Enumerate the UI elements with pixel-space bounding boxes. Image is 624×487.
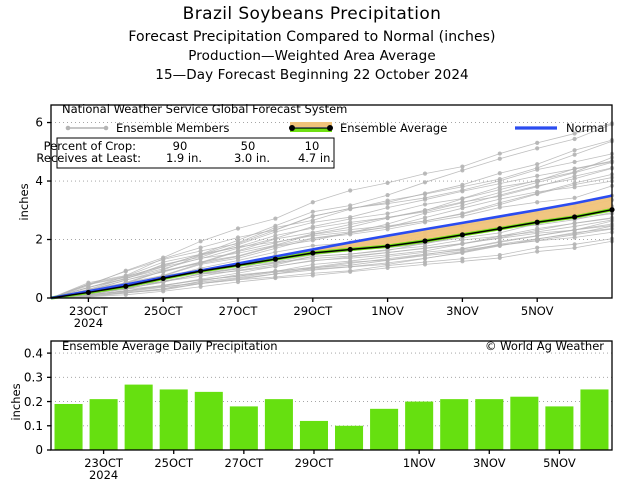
ensemble-member-point	[460, 257, 464, 261]
crop-percentile-table: Percent of Crop:Receives at Least:905010…	[36, 138, 334, 168]
ensemble-member-point	[348, 269, 352, 273]
ensemble-member-point	[573, 137, 577, 141]
ensemble-member-point	[535, 166, 539, 170]
ensemble-member-point	[498, 171, 502, 175]
ensemble-member-point	[535, 185, 539, 189]
ensemble-member-point	[423, 180, 427, 184]
daily-precip-bar	[300, 421, 328, 450]
subtitle-line-1: Forecast Precipitation Compared to Norma…	[0, 29, 624, 45]
ensemble-member-point	[199, 239, 203, 243]
ensemble-average-point	[422, 238, 427, 243]
ensemble-member-point	[386, 205, 390, 209]
ensemble-member-point	[573, 224, 577, 228]
ensemble-member-point	[273, 236, 277, 240]
ensemble-member-point	[386, 222, 390, 226]
top-chart-y-tick-label: 6	[35, 116, 43, 130]
daily-precip-bar	[370, 409, 398, 450]
ensemble-member-point	[573, 196, 577, 200]
ensemble-member-point	[535, 230, 539, 234]
top-chart-x-tick-year: 2024	[74, 316, 103, 330]
ensemble-member-point	[573, 246, 577, 250]
crop-table-amount: 1.9 in.	[166, 151, 202, 165]
top-chart-x-tick-label: 25OCT	[144, 304, 184, 318]
ensemble-member-point	[498, 177, 502, 181]
ensemble-member-point	[124, 269, 128, 273]
ensemble-member-point	[348, 225, 352, 229]
ensemble-member-point	[311, 232, 315, 236]
bottom-chart-x-tick-label: 27OCT	[224, 456, 264, 470]
bottom-chart-x-tick-label: 25OCT	[154, 456, 194, 470]
subtitle-line-2: Production—Weighted Area Average	[0, 48, 624, 64]
ensemble-member-point	[423, 250, 427, 254]
top-chart-x-tick-label: 1NOV	[371, 304, 404, 318]
ensemble-member-point	[498, 185, 502, 189]
ensemble-average-point	[273, 257, 278, 262]
ensemble-member-point	[573, 228, 577, 232]
daily-precip-bar	[545, 406, 573, 450]
ensemble-average-point	[572, 214, 577, 219]
ensemble-member-point	[573, 242, 577, 246]
bottom-chart-y-tick-label: 0	[35, 443, 43, 457]
legend-swatch-ensemble-average	[289, 122, 333, 131]
ensemble-member-point	[498, 194, 502, 198]
ensemble-member-point	[236, 235, 240, 239]
daily-precip-bar	[90, 399, 118, 450]
ensemble-member-point	[573, 181, 577, 185]
ensemble-member-point	[460, 196, 464, 200]
daily-precip-bar	[510, 397, 538, 450]
ensemble-member-point	[273, 261, 277, 265]
ensemble-member-point	[86, 281, 90, 285]
ensemble-member-point	[573, 160, 577, 164]
ensemble-member-point	[535, 162, 539, 166]
legend-label-normal: Normal	[566, 121, 608, 135]
ensemble-member-point	[535, 191, 539, 195]
bottom-chart-y-tick-label: 0.3	[24, 371, 43, 385]
ensemble-member-point	[273, 269, 277, 273]
ensemble-member-point	[348, 188, 352, 192]
bottom-chart-panel: 00.10.20.30.423OCT202425OCT27OCT29OCT1NO…	[0, 336, 624, 487]
ensemble-member-point	[273, 250, 277, 254]
ensemble-average-point	[385, 244, 390, 249]
crop-table-row2-label: Receives at Least:	[36, 151, 141, 165]
ensemble-member-point	[423, 196, 427, 200]
ensemble-member-point	[273, 241, 277, 245]
ensemble-average-point	[348, 247, 353, 252]
ensemble-member-point	[311, 244, 315, 248]
ensemble-member-point	[236, 254, 240, 258]
ensemble-member-point	[535, 200, 539, 204]
bottom-chart-y-tick-label: 0.2	[24, 395, 43, 409]
ensemble-member-point	[535, 179, 539, 183]
daily-precip-bar	[475, 399, 503, 450]
ensemble-member-point	[460, 183, 464, 187]
legend-label-ensemble-members: Ensemble Members	[116, 121, 229, 135]
bottom-chart-x-tick-label: 29OCT	[295, 456, 335, 470]
ensemble-member-point	[423, 256, 427, 260]
ensemble-member-point	[348, 259, 352, 263]
bottom-chart-plot: 00.10.20.30.423OCT202425OCT27OCT29OCT1NO…	[24, 339, 612, 482]
ensemble-member-point	[348, 230, 352, 234]
ensemble-member-point	[236, 246, 240, 250]
daily-precip-bar	[230, 406, 258, 450]
ensemble-average-point	[235, 263, 240, 268]
ensemble-member-point	[386, 200, 390, 204]
ensemble-average-point	[535, 220, 540, 225]
ensemble-member-point	[236, 241, 240, 245]
ensemble-member-point	[460, 211, 464, 215]
daily-precip-bar	[580, 389, 608, 450]
crop-table-amount: 3.0 in.	[234, 151, 270, 165]
bottom-chart-panel-label: Ensemble Average Daily Precipitation	[62, 339, 278, 353]
ensemble-average-point	[86, 290, 91, 295]
bottom-chart-x-tick-label: 5NOV	[543, 456, 576, 470]
daily-precip-bar	[125, 385, 153, 450]
ensemble-member-point	[498, 201, 502, 205]
ensemble-member-point	[124, 273, 128, 277]
title-block: Brazil Soybeans Precipitation Forecast P…	[0, 0, 624, 83]
model-name-label: National Weather Service Global Forecast…	[62, 102, 347, 116]
ensemble-member-point	[161, 263, 165, 267]
ensemble-member-point	[498, 157, 502, 161]
ensemble-member-point	[423, 172, 427, 176]
ensemble-average-point	[161, 276, 166, 281]
daily-precip-bar	[335, 426, 363, 450]
top-chart-panel: 024623OCT202425OCT27OCT29OCT1NOV3NOV5NOV…	[0, 100, 624, 335]
top-chart-x-tick-label: 29OCT	[293, 304, 333, 318]
daily-precip-bar	[405, 402, 433, 450]
daily-precip-bar	[265, 399, 293, 450]
ensemble-member-point	[199, 253, 203, 257]
ensemble-member-point	[498, 253, 502, 257]
crop-table-amount: 4.7 in.	[298, 151, 334, 165]
top-chart-x-tick-label: 5NOV	[521, 304, 554, 318]
ensemble-member-point	[498, 151, 502, 155]
ensemble-member-point	[273, 228, 277, 232]
ensemble-member-point	[311, 218, 315, 222]
ensemble-member-point	[535, 174, 539, 178]
ensemble-member-point	[236, 226, 240, 230]
ensemble-member-point	[311, 271, 315, 275]
legend-label-ensemble-average: Ensemble Average	[340, 121, 447, 135]
ensemble-average-point	[310, 250, 315, 255]
daily-precip-bar	[440, 399, 468, 450]
ensemble-member-point	[199, 245, 203, 249]
ensemble-member-point	[535, 246, 539, 250]
ensemble-average-point	[497, 226, 502, 231]
ensemble-member-point	[535, 141, 539, 145]
top-chart-x-tick-label: 27OCT	[219, 304, 259, 318]
ensemble-member-point	[348, 265, 352, 269]
subtitle-line-3: 15—Day Forecast Beginning 22 October 202…	[0, 67, 624, 83]
ensemble-average-point	[123, 284, 128, 289]
ensemble-member-point	[311, 214, 315, 218]
ensemble-average-point	[460, 232, 465, 237]
ensemble-member-point	[348, 206, 352, 210]
ensemble-member-point	[199, 261, 203, 265]
ensemble-member-point	[386, 215, 390, 219]
ensemble-member-point	[573, 167, 577, 171]
chart-page: Brazil Soybeans Precipitation Forecast P…	[0, 0, 624, 487]
bottom-chart-x-tick-label: 3NOV	[473, 456, 506, 470]
ensemble-member-point	[273, 216, 277, 220]
ensemble-member-point	[311, 200, 315, 204]
ensemble-member-point	[161, 256, 165, 260]
ensemble-member-point	[236, 274, 240, 278]
top-chart-x-tick-label: 3NOV	[446, 304, 479, 318]
ensemble-member-point	[311, 238, 315, 242]
bottom-chart-x-tick-label: 1NOV	[403, 456, 436, 470]
copyright-credit: © World Ag Weather	[485, 339, 604, 353]
ensemble-member-point	[460, 247, 464, 251]
ensemble-member-point	[535, 249, 539, 253]
bottom-chart-x-tick-year: 2024	[89, 468, 118, 482]
ensemble-member-point	[460, 165, 464, 169]
ensemble-member-point	[386, 254, 390, 258]
daily-precip-bar	[55, 404, 83, 450]
bottom-chart-y-tick-label: 0.4	[24, 346, 43, 360]
ensemble-member-point	[423, 260, 427, 264]
ensemble-member-point	[460, 168, 464, 172]
ensemble-member-point	[423, 202, 427, 206]
top-chart-y-tick-label: 2	[35, 233, 43, 247]
ensemble-member-point	[423, 219, 427, 223]
daily-precip-bar	[195, 392, 223, 450]
top-chart-y-tick-label: 0	[35, 291, 43, 305]
daily-precip-bar	[160, 389, 188, 450]
page-title: Brazil Soybeans Precipitation	[0, 4, 624, 24]
ensemble-member-point	[386, 212, 390, 216]
ensemble-member-point	[386, 181, 390, 185]
top-chart-y-tick-label: 4	[35, 174, 43, 188]
ensemble-member-point	[573, 153, 577, 157]
ensemble-member-point	[423, 191, 427, 195]
ensemble-member-point	[386, 193, 390, 197]
ensemble-member-point	[199, 278, 203, 282]
ensemble-member-point	[199, 257, 203, 261]
ensemble-member-point	[573, 148, 577, 152]
ensemble-member-point	[311, 262, 315, 266]
ensemble-member-point	[423, 208, 427, 212]
ensemble-member-point	[460, 251, 464, 255]
ensemble-member-point	[348, 217, 352, 221]
ensemble-average-point	[198, 268, 203, 273]
ensemble-member-point	[311, 210, 315, 214]
bottom-chart-y-tick-label: 0.1	[24, 419, 43, 433]
ensemble-member-point	[573, 174, 577, 178]
ensemble-member-point	[535, 146, 539, 150]
ensemble-member-point	[311, 224, 315, 228]
